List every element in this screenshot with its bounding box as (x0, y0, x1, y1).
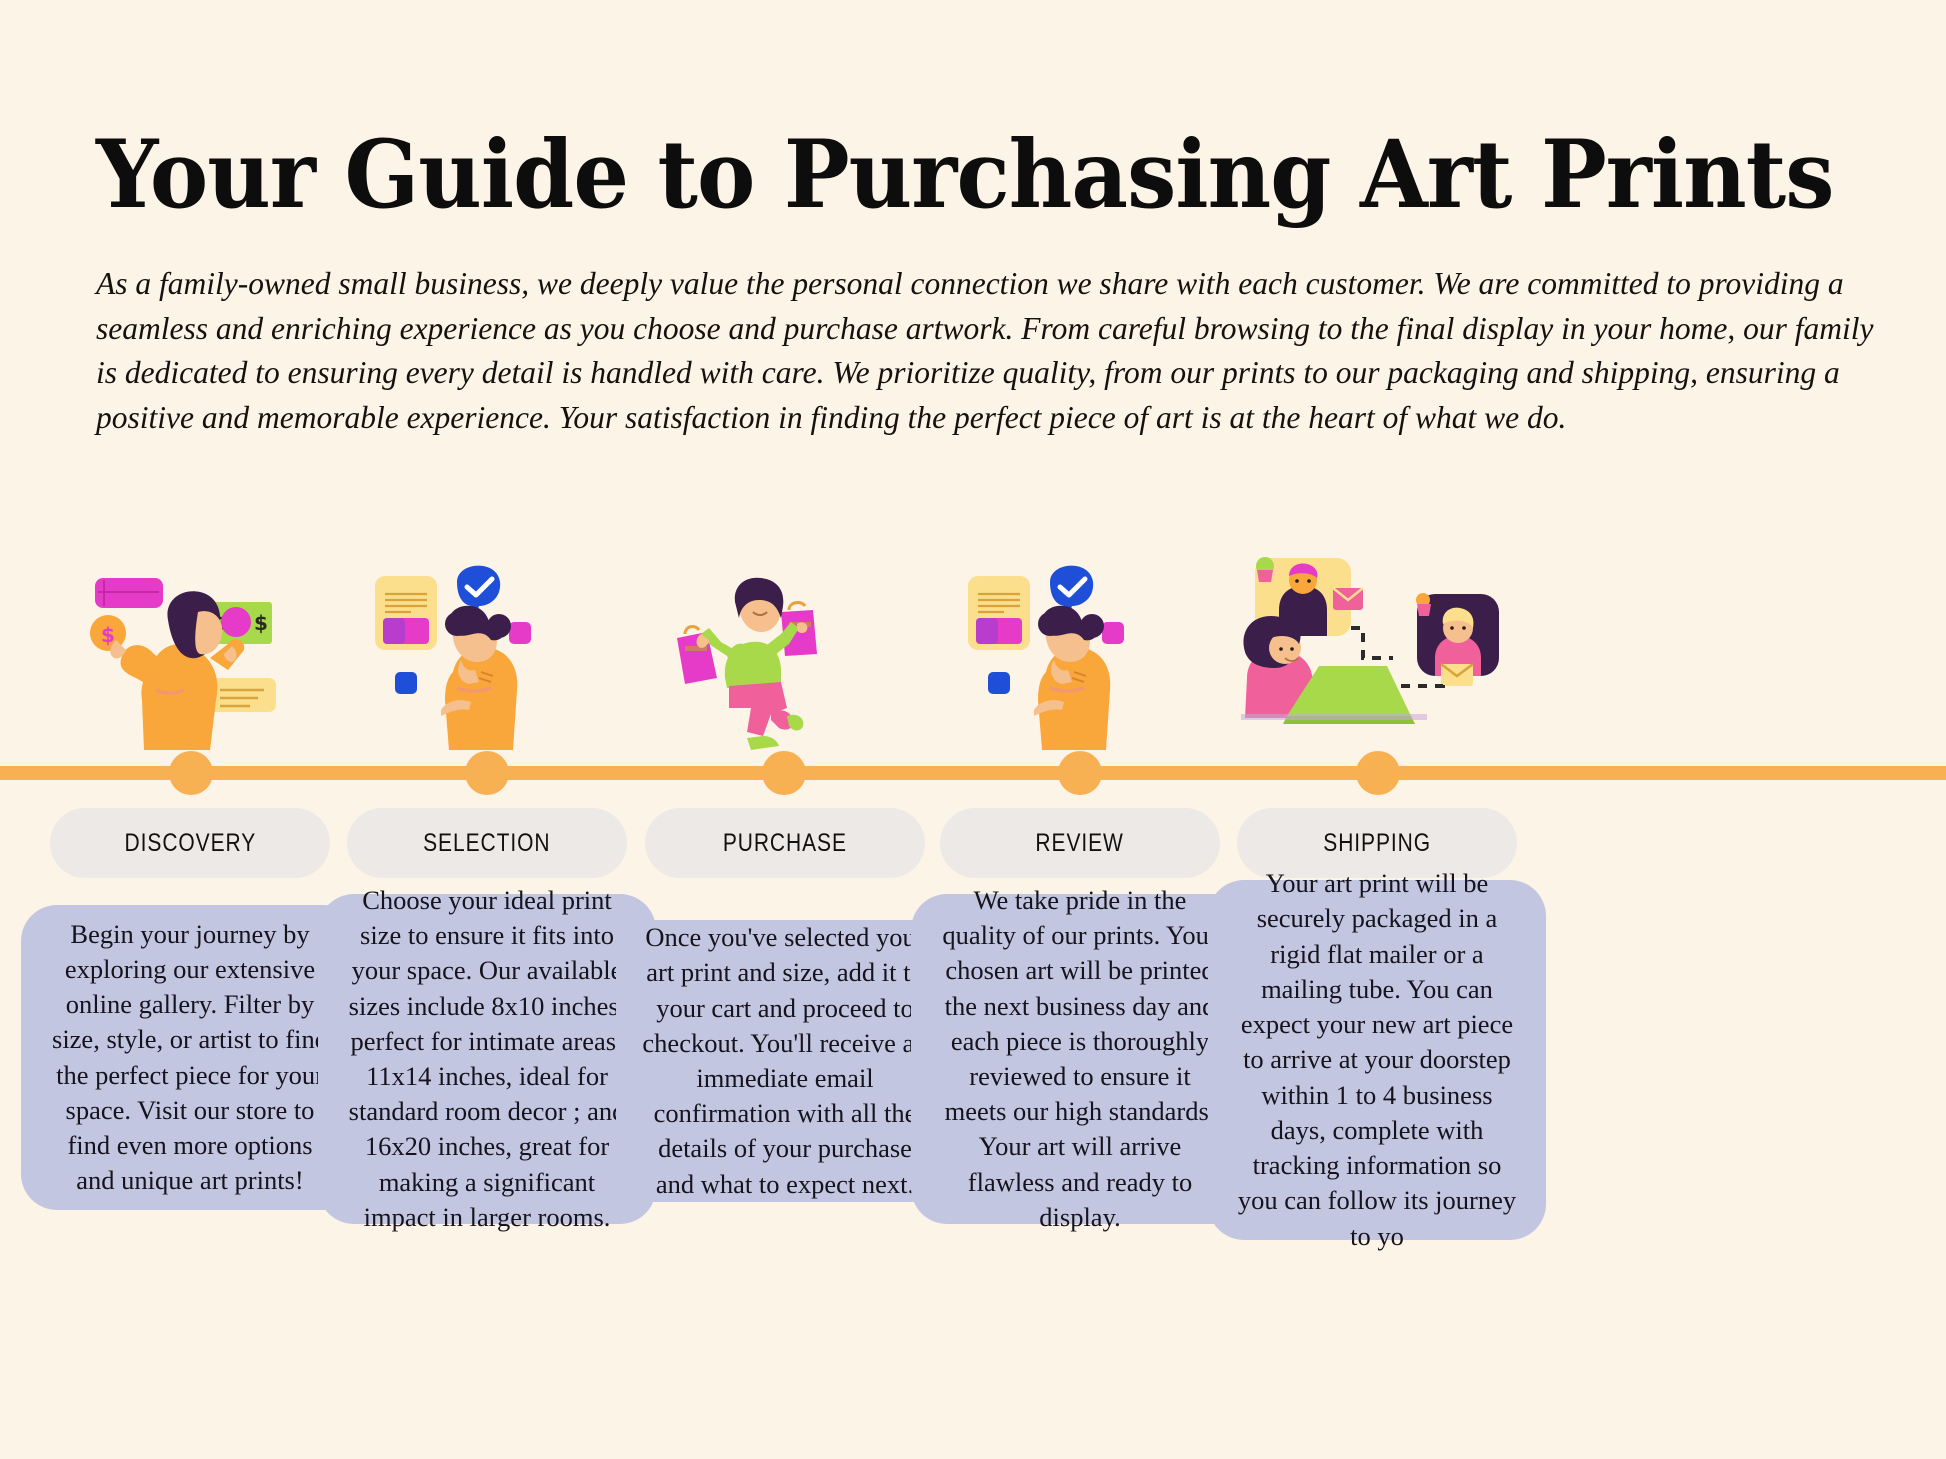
stage-pill-review[interactable]: REVIEW (940, 808, 1220, 878)
stage-description-purchase: Once you've selected your art print and … (642, 920, 928, 1202)
svg-text:$: $ (101, 623, 115, 647)
person-thinking-with-checkmark-bubble-illustration (357, 560, 617, 750)
stage-card-purchase: Once you've selected your art print and … (616, 920, 954, 1202)
stage-label-selection: SELECTION (423, 829, 550, 858)
stage-pill-selection[interactable]: SELECTION (347, 808, 627, 878)
stage-label-discovery: DISCOVERY (124, 829, 256, 858)
person-with-money-and-coin-illustration: $ $ $ (60, 560, 320, 750)
stage-card-selection: Choose your ideal print size to ensure i… (318, 894, 656, 1224)
stage-card-shipping: Your art print will be securely packaged… (1208, 880, 1546, 1240)
stage-description-shipping: Your art print will be securely packaged… (1234, 866, 1520, 1254)
stage-pill-purchase[interactable]: PURCHASE (645, 808, 925, 878)
stage-description-discovery: Begin your journey by exploring our exte… (47, 917, 333, 1199)
person-carrying-shopping-bags-illustration (655, 560, 915, 750)
infographic-page: Your Guide to Purchasing Art Prints As a… (0, 0, 1946, 1459)
stage-card-review: We take pride in the quality of our prin… (911, 894, 1249, 1224)
stage-label-purchase: PURCHASE (723, 829, 847, 858)
person-thinking-with-checkmark-bubble-illustration (950, 560, 1210, 750)
svg-text:$: $ (254, 611, 268, 635)
stage-label-shipping: SHIPPING (1323, 829, 1431, 858)
stage-description-selection: Choose your ideal print size to ensure i… (344, 883, 630, 1235)
stage-description-review: We take pride in the quality of our prin… (937, 883, 1223, 1235)
stage-pill-discovery[interactable]: DISCOVERY (50, 808, 330, 878)
stage-columns: $ $ $ DISCOVERY (0, 0, 1946, 1459)
person-at-laptop-sending-mail-illustration (1227, 548, 1527, 748)
stage-card-discovery: Begin your journey by exploring our exte… (21, 905, 359, 1210)
stage-label-review: REVIEW (1036, 829, 1124, 858)
